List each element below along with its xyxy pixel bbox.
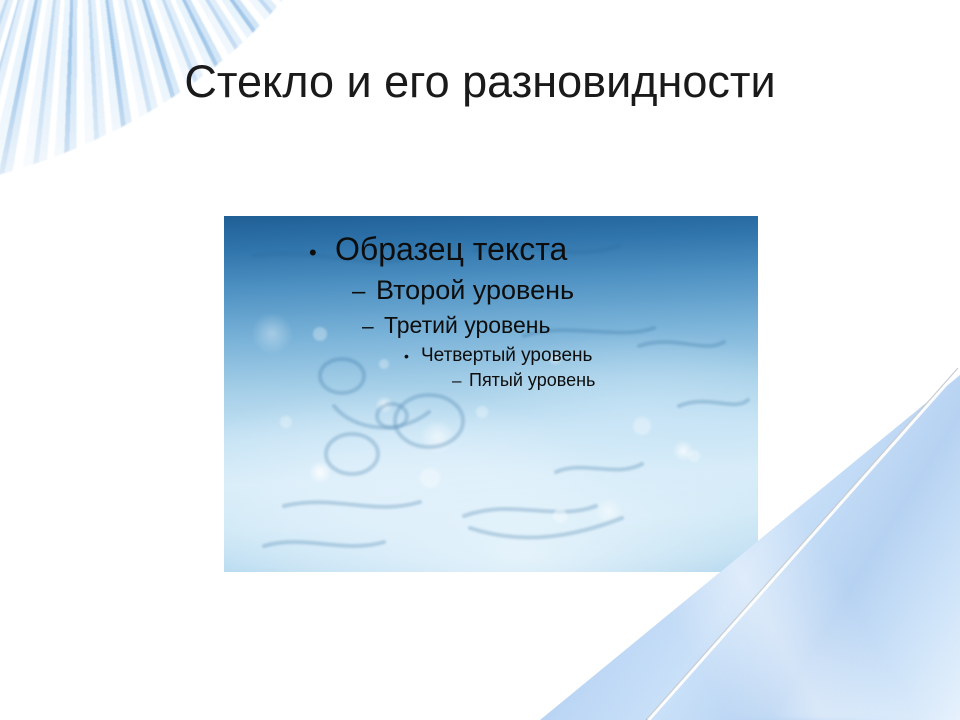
outline-level-1: • Образец текста <box>309 230 758 269</box>
bullet-dash-icon: – <box>452 371 469 392</box>
outline-level-1-label: Образец текста <box>335 230 567 269</box>
bullet-dot-icon: • <box>404 348 421 365</box>
outline-level-3-label: Третий уровень <box>384 311 550 339</box>
outline-level-5-label: Пятый уровень <box>469 370 595 392</box>
outline-level-4: • Четвертый уровень <box>404 344 758 367</box>
outline-level-3: – Третий уровень <box>362 311 758 340</box>
bullet-dash-icon: – <box>352 277 376 306</box>
content-picture-placeholder[interactable]: • Образец текста – Второй уровень – Трет… <box>224 216 758 572</box>
outline-level-2: – Второй уровень <box>352 274 758 307</box>
slide-canvas: Стекло и его разновидности <box>0 0 960 720</box>
page-title: Стекло и его разновидности <box>0 58 960 105</box>
bullet-dash-icon: – <box>362 314 384 340</box>
outline-level-4-label: Четвертый уровень <box>421 344 592 367</box>
bullet-dot-icon: • <box>309 240 335 267</box>
outline-level-2-label: Второй уровень <box>376 274 574 307</box>
outline-text-block: • Образец текста – Второй уровень – Трет… <box>224 216 758 572</box>
outline-level-5: – Пятый уровень <box>452 370 758 392</box>
